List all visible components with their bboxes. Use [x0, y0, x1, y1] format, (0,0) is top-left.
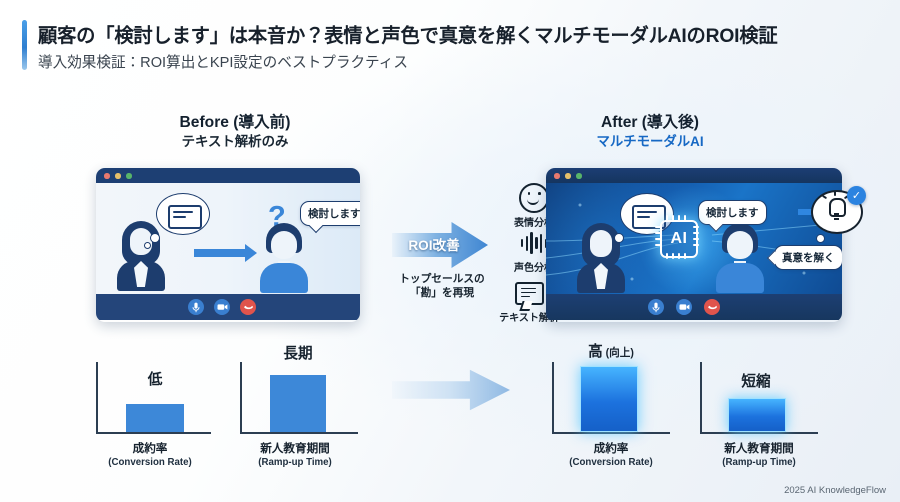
ai-chip-label: AI — [671, 230, 688, 248]
traffic-light-yellow-icon — [115, 173, 121, 179]
bar-after-conversion — [580, 366, 638, 432]
xlabel-en: (Ramp-up Time) — [230, 457, 360, 468]
bar-before-conversion — [126, 404, 184, 432]
traffic-light-yellow-icon — [565, 173, 571, 179]
customer-quote-after: 検討します — [706, 207, 759, 219]
bar-label-before-conversion: 低 — [126, 368, 184, 389]
xlabel-jp: 成約率 — [546, 440, 676, 456]
after-subheading: マルチモーダルAI — [520, 133, 780, 151]
customer-quote-bubble-before: 検討します — [300, 201, 360, 226]
xlabel-after-conversion: 成約率 (Conversion Rate) — [546, 440, 676, 468]
end-call-icon[interactable] — [240, 299, 256, 315]
window-chrome-before — [96, 168, 360, 183]
before-video-window: ? 検討します — [96, 168, 360, 322]
thought-dot-large — [614, 233, 624, 243]
xlabel-en: (Conversion Rate) — [546, 457, 676, 468]
slide-canvas: 顧客の「検討します」は本音か？表情と声色で真意を解くマルチモーダルAIのROI検… — [0, 0, 900, 502]
page-subtitle: 導入効果検証：ROI算出とKPI設定のベストプラクティス — [38, 51, 408, 72]
before-heading-block: Before (導入前) テキスト解析のみ — [105, 113, 365, 151]
after-heading-block: After (導入後) マルチモーダルAI — [520, 113, 780, 151]
traffic-light-red-icon — [554, 173, 560, 179]
customer-avatar-before — [266, 223, 310, 293]
bar-label-after-rampup: 短縮 — [724, 370, 788, 391]
idea-thought-dot — [816, 234, 825, 243]
after-heading: After (導入後) — [520, 113, 780, 133]
before-after-transition-arrow — [392, 368, 510, 412]
traffic-light-green-icon — [126, 173, 132, 179]
thought-dot-small — [144, 242, 151, 249]
thought-dot-large — [150, 233, 160, 243]
xlabel-before-rampup: 新人教育期間 (Ramp-up Time) — [230, 440, 360, 468]
bar-label-main: 高 — [588, 344, 603, 360]
before-video-screen: ? 検討します — [96, 183, 360, 296]
insight-quote-bubble: 真意を解く — [774, 245, 842, 270]
customer-avatar-after — [722, 223, 766, 293]
thought-bubble-before — [156, 193, 210, 235]
before-flow-arrow — [194, 249, 246, 257]
customer-quote-bubble-after: 検討します — [698, 200, 767, 225]
roi-arrow-subtext: トップセールスの 「勘」を再現 — [382, 272, 502, 301]
slide-header: 顧客の「検討します」は本音か？表情と声色で真意を解くマルチモーダルAIのROI検… — [0, 0, 900, 82]
roi-subtext-line1: トップセールスの — [382, 272, 502, 286]
ai-chip-icon: AI — [655, 215, 699, 259]
xlabel-jp: 成約率 — [85, 440, 215, 456]
xlabel-en: (Ramp-up Time) — [694, 457, 824, 468]
mic-icon[interactable] — [188, 299, 204, 315]
chart-after-conversion: 高 (向上) — [552, 362, 670, 434]
before-heading: Before (導入前) — [105, 113, 365, 133]
insight-quote: 真意を解く — [782, 252, 835, 264]
before-subheading: テキスト解析のみ — [105, 133, 365, 151]
chart-after-rampup: 短縮 — [700, 362, 818, 434]
insight-lightbulb-group: ✓ — [808, 186, 868, 234]
camera-icon[interactable] — [214, 299, 230, 315]
xlabel-jp: 新人教育期間 — [230, 440, 360, 456]
roi-subtext-line2: 「勘」を再現 — [382, 286, 502, 300]
xlabel-jp: 新人教育期間 — [694, 440, 824, 456]
mic-icon[interactable] — [648, 299, 664, 315]
xlabel-before-conversion: 成約率 (Conversion Rate) — [85, 440, 215, 468]
before-call-controls — [96, 294, 360, 320]
bar-label-after-conversion: 高 (向上) — [568, 340, 654, 361]
roi-improvement-arrow: ROI改善 — [392, 222, 488, 268]
bar-before-rampup — [270, 375, 326, 432]
traffic-light-green-icon — [576, 173, 582, 179]
bar-label-suffix: (向上) — [603, 347, 634, 359]
footer-credit: 2025 AI KnowledgeFlow — [784, 485, 886, 496]
bar-after-rampup — [728, 398, 786, 432]
page-title: 顧客の「検討します」は本音か？表情と声色で真意を解くマルチモーダルAIのROI検… — [38, 20, 888, 48]
traffic-light-red-icon — [104, 173, 110, 179]
chart-before-conversion: 低 — [96, 362, 211, 434]
camera-icon[interactable] — [676, 299, 692, 315]
after-call-controls — [546, 294, 842, 320]
chart-before-rampup: 長期 — [240, 362, 358, 434]
title-accent-bar — [22, 20, 27, 70]
window-chrome-after — [546, 168, 842, 183]
xlabel-en: (Conversion Rate) — [85, 457, 215, 468]
roi-arrow-label: ROI改善 — [398, 234, 470, 254]
bar-label-before-rampup: 長期 — [268, 342, 328, 363]
sales-rep-avatar — [122, 221, 168, 293]
xlabel-after-rampup: 新人教育期間 (Ramp-up Time) — [694, 440, 824, 468]
end-call-icon[interactable] — [704, 299, 720, 315]
verified-check-icon: ✓ — [847, 186, 866, 205]
